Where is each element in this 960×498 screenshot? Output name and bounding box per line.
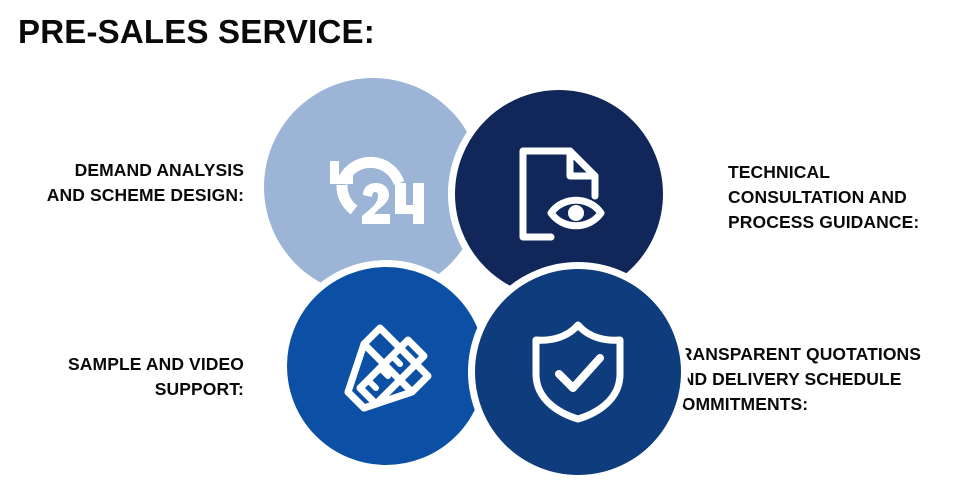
circle-cluster bbox=[262, 78, 672, 490]
page-title: PRE-SALES SERVICE: bbox=[18, 12, 375, 52]
pencil-ruler-design-icon bbox=[287, 267, 485, 465]
label-transparent-quotations: TRANSPARENT QUOTATIONS AND DELIVERY SCHE… bbox=[669, 342, 960, 417]
label-demand-analysis: DEMAND ANALYSIS AND SCHEME DESIGN: bbox=[0, 158, 244, 208]
circle-transparent-quotations[interactable] bbox=[468, 262, 688, 482]
label-technical-consultation: TECHNICAL CONSULTATION AND PROCESS GUIDA… bbox=[728, 160, 960, 235]
label-sample-video-support: SAMPLE AND VIDEO SUPPORT: bbox=[0, 352, 244, 402]
shield-check-icon bbox=[475, 269, 681, 475]
circle-sample-video-support[interactable] bbox=[280, 260, 492, 472]
